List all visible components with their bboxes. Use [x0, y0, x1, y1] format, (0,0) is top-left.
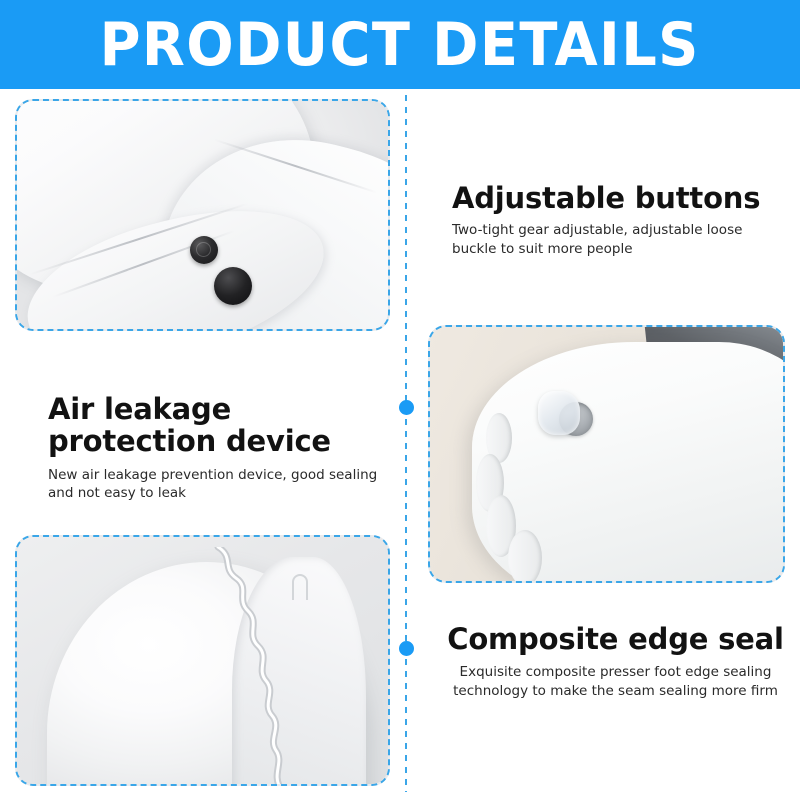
product-details-infographic: PRODUCT DETAILS [0, 0, 800, 800]
page-title: PRODUCT DETAILS [100, 15, 700, 75]
air-valve-nozzle-icon [538, 391, 580, 435]
photo-air-valve [428, 325, 785, 583]
connector-dot-2 [399, 641, 414, 656]
photo-composite-seam [15, 535, 390, 786]
vertical-dashed-divider [405, 95, 407, 792]
feature-heading: Composite edge seal [443, 623, 788, 655]
snap-button-small [190, 236, 218, 264]
feature-text-composite-edge-seal: Composite edge seal Exquisite composite … [443, 623, 788, 700]
feature-heading-line-2: protection device [48, 425, 388, 457]
feature-heading-line-1: Air leakage [48, 393, 388, 425]
feature-body: New air leakage prevention device, good … [48, 466, 388, 502]
feature-body: Two-tight gear adjustable, adjustable lo… [452, 221, 782, 257]
wavy-seam-icon [188, 547, 298, 784]
fabric-pleat [508, 530, 542, 581]
feature-text-air-leakage: Air leakage protection device New air le… [48, 393, 388, 502]
feature-heading: Air leakage protection device [48, 393, 388, 458]
connector-dot-1 [399, 400, 414, 415]
feature-body: Exquisite composite presser foot edge se… [443, 663, 788, 699]
header-banner: PRODUCT DETAILS [0, 0, 800, 89]
snap-button-large [214, 267, 252, 305]
feature-heading: Adjustable buttons [452, 182, 782, 214]
photo-adjustable-buttons [15, 99, 390, 331]
feature-text-adjustable-buttons: Adjustable buttons Two-tight gear adjust… [452, 182, 782, 258]
